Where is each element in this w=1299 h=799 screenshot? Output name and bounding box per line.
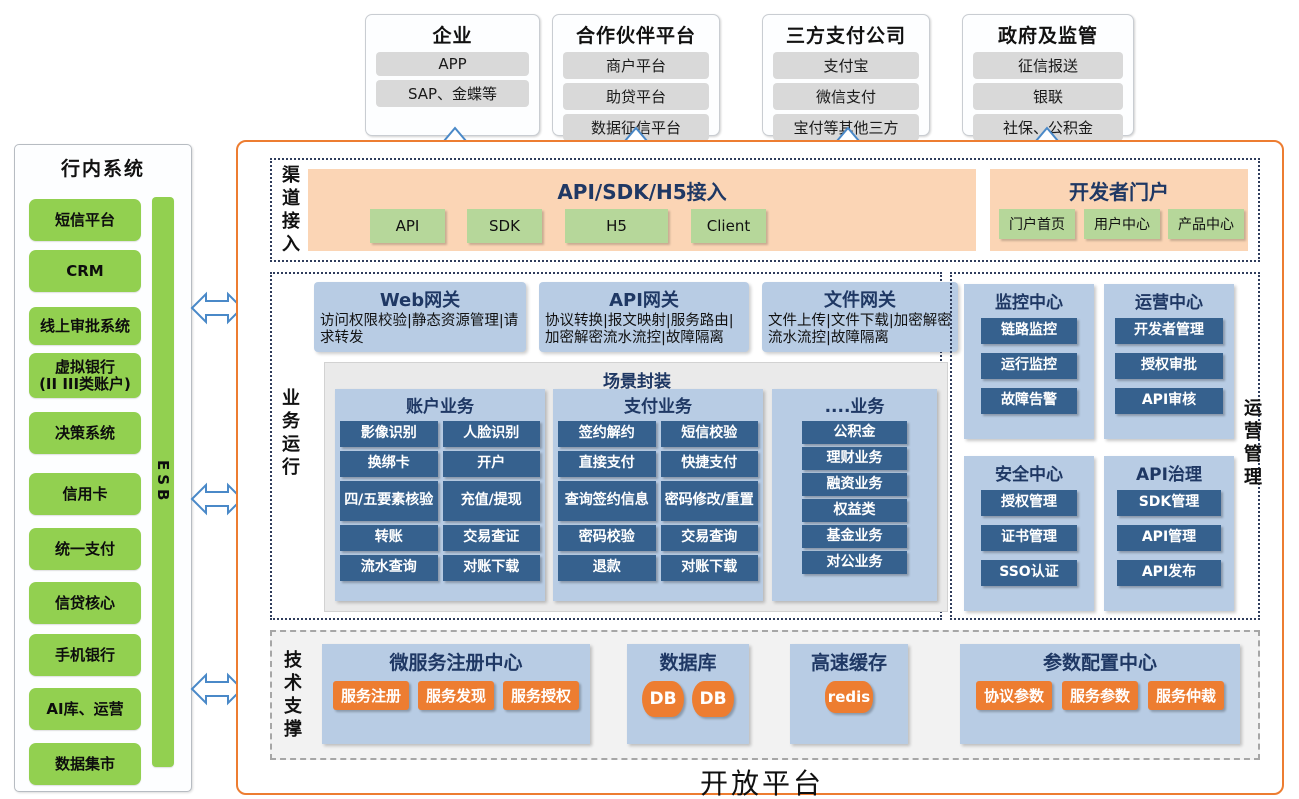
inbank-item-label: CRM (66, 263, 104, 280)
scene-chip[interactable]: 密码校验 (558, 525, 656, 551)
portal-chip-product-center[interactable]: 产品中心 (1168, 209, 1244, 239)
ops-card-operation-center: 运营中心 开发者管理 授权审批 API审核 (1104, 284, 1234, 439)
ops-chip[interactable]: SSO认证 (981, 560, 1077, 586)
partner-card-title: 合作伙伴平台 (576, 21, 696, 48)
scene-column-other-business: ....业务 公积金 理财业务 融资业务 权益类 基金业务 对公业务 (772, 389, 937, 601)
scene-chip[interactable]: 快捷支付 (661, 451, 759, 477)
inbank-item-online-approval[interactable]: 线上审批系统 (29, 307, 141, 345)
scene-chip[interactable]: 转账 (340, 525, 438, 551)
scene-chip[interactable]: 短信校验 (661, 421, 759, 447)
partner-card-title: 企业 (432, 21, 472, 48)
scene-chip[interactable]: 基金业务 (802, 525, 907, 548)
inbank-item-label: 信贷核心 (55, 595, 115, 612)
gateway-title: Web网关 (380, 286, 460, 312)
ops-card-api-governance: API治理 SDK管理 API管理 API发布 (1104, 456, 1234, 611)
channel-chip-label: Client (707, 217, 750, 235)
tech-card-title: 参数配置中心 (1043, 648, 1157, 675)
partner-card-partner-platform: 合作伙伴平台 商户平台 助贷平台 数据征信平台 (552, 14, 720, 136)
portal-chip-label: 门户首页 (1009, 214, 1065, 234)
partner-card-enterprise: 企业 APP SAP、金蝶等 (365, 14, 540, 136)
gateway-title: API网关 (609, 286, 679, 312)
tech-card-title: 数据库 (659, 648, 716, 675)
arrow-esb-platform-top (192, 292, 242, 324)
scene-chip[interactable]: 密码修改/重置 (661, 481, 759, 521)
operations-management-vertical-label: 运营管理 (1238, 379, 1264, 509)
channel-chip-sdk[interactable]: SDK (467, 209, 542, 243)
gateway-desc: 文件上传|文件下载|加密解密流水流控|故障隔离 (768, 313, 952, 347)
ops-chip[interactable]: API管理 (1117, 525, 1221, 551)
tech-chip[interactable]: 服务授权 (503, 681, 579, 710)
channel-chip-label: SDK (489, 217, 520, 235)
scene-chip[interactable]: 换绑卡 (340, 451, 438, 477)
gateway-card-api: API网关 协议转换|报文映射|服务路由|加密解密流水流控|故障隔离 (539, 282, 749, 352)
esb-bus: ESB (152, 197, 174, 767)
scene-chip[interactable]: 理财业务 (802, 447, 907, 470)
inbank-item-unified-payment[interactable]: 统一支付 (29, 528, 141, 570)
technical-support-section: 技术支撑 微服务注册中心 服务注册 服务发现 服务授权 数据库 DB DB 高速… (270, 630, 1260, 760)
partner-card-government-regulator: 政府及监管 征信报送 银联 社保、公积金 (962, 14, 1134, 136)
channel-access-vertical-label: 渠道接入 (276, 165, 302, 257)
partner-item: 支付宝 (773, 52, 919, 79)
inbank-item-sms-platform[interactable]: 短信平台 (29, 199, 141, 241)
tech-card-high-speed-cache: 高速缓存 redis (790, 644, 908, 744)
tech-chip-db[interactable]: DB (642, 681, 684, 717)
scene-chip[interactable]: 影像识别 (340, 421, 438, 447)
scene-chip[interactable]: 对账下载 (661, 555, 759, 581)
channel-access-section: 渠道接入 API/SDK/H5接入 API SDK H5 Client 开发者门… (270, 158, 1260, 262)
ops-chip[interactable]: API发布 (1117, 560, 1221, 586)
arrow-esb-platform-middle (192, 483, 242, 515)
tech-chip[interactable]: 协议参数 (976, 681, 1052, 710)
gateway-card-web: Web网关 访问权限校验|静态资源管理|请求转发 (314, 282, 526, 352)
tech-card-parameter-config-center: 参数配置中心 协议参数 服务参数 服务仲裁 (960, 644, 1240, 744)
scene-chip[interactable]: 查询签约信息 (558, 481, 656, 521)
ops-card-title: 运营中心 (1135, 288, 1203, 313)
ops-chip[interactable]: 链路监控 (981, 318, 1077, 344)
ops-chip[interactable]: 开发者管理 (1115, 318, 1223, 344)
inbank-item-label: 短信平台 (55, 212, 115, 229)
scene-chip[interactable]: 交易查证 (443, 525, 541, 551)
tech-chip[interactable]: 服务注册 (333, 681, 409, 710)
inbank-item-label: 决策系统 (55, 425, 115, 442)
scene-column-title: 账户业务 (406, 392, 474, 417)
ops-chip[interactable]: 故障告警 (981, 388, 1077, 414)
esb-label: ESB (154, 460, 172, 504)
inbank-item-label: 手机银行 (55, 647, 115, 664)
inbank-system-panel: 行内系统 ESB 短信平台 CRM 线上审批系统 虚拟银行 (II III类账户… (14, 144, 192, 792)
ops-card-title: 安全中心 (995, 460, 1063, 485)
platform-title: 开放平台 (238, 762, 1286, 799)
api-sdk-h5-access-title: API/SDK/H5接入 (308, 176, 976, 205)
partner-card-third-party-payment: 三方支付公司 支付宝 微信支付 宝付等其他三方 (762, 14, 930, 136)
inbank-item-label: 线上审批系统 (40, 318, 130, 335)
partner-item: 银联 (973, 83, 1123, 110)
scene-encapsulation-panel: 场景封装 账户业务 影像识别 换绑卡 四/五要素核验 转账 流水查询 人脸 (324, 362, 948, 612)
partner-card-title: 三方支付公司 (786, 21, 906, 48)
inbank-item-label: 统一支付 (55, 541, 115, 558)
arrow-esb-platform-bottom (192, 673, 242, 705)
ops-card-title: API治理 (1136, 460, 1202, 485)
scene-chip[interactable]: 流水查询 (340, 555, 438, 581)
inbank-item-mobile-bank[interactable]: 手机银行 (29, 634, 141, 676)
channel-chip-api[interactable]: API (370, 209, 445, 243)
scene-column-title: ....业务 (825, 392, 885, 417)
technical-support-vertical-label: 技术支撑 (278, 642, 304, 750)
ops-chip[interactable]: 运行监控 (981, 353, 1077, 379)
scene-chip[interactable]: 公积金 (802, 421, 907, 444)
developer-portal-title: 开发者门户 (990, 176, 1248, 205)
tech-chip-db[interactable]: DB (692, 681, 734, 717)
ops-card-security-center: 安全中心 授权管理 证书管理 SSO认证 (964, 456, 1094, 611)
partner-item: SAP、金蝶等 (376, 80, 529, 107)
ops-chip[interactable]: 证书管理 (981, 525, 1077, 551)
scene-chip[interactable]: 交易查询 (661, 525, 759, 551)
channel-chip-label: API (396, 217, 420, 235)
scene-chip[interactable]: 直接支付 (558, 451, 656, 477)
portal-chip-label: 产品中心 (1178, 214, 1234, 234)
operations-management-section: 监控中心 链路监控 运行监控 故障告警 运营中心 开发者管理 授权审批 API审… (950, 272, 1260, 620)
inbank-item-label: AI库、运营 (46, 701, 123, 718)
ops-chip[interactable]: 授权管理 (981, 490, 1077, 516)
scene-column-payment-business: 支付业务 签约解约 直接支付 查询签约信息 密码校验 退款 短信校验 快捷支付 (553, 389, 763, 601)
partner-card-title: 政府及监管 (998, 21, 1098, 48)
scene-chip[interactable]: 权益类 (802, 499, 907, 522)
tech-chip-redis[interactable]: redis (825, 681, 873, 713)
scene-column-title: 支付业务 (624, 392, 692, 417)
tech-card-title: 高速缓存 (811, 648, 887, 675)
architecture-diagram: 企业 APP SAP、金蝶等 合作伙伴平台 商户平台 助贷平台 数据征信平台 三… (0, 0, 1299, 799)
partner-item: 商户平台 (563, 52, 709, 79)
scene-chip[interactable]: 四/五要素核验 (340, 481, 438, 521)
gateway-card-file: 文件网关 文件上传|文件下载|加密解密流水流控|故障隔离 (762, 282, 958, 352)
inbank-item-virtual-bank[interactable]: 虚拟银行 (II III类账户) (29, 353, 141, 398)
partner-item: 微信支付 (773, 83, 919, 110)
channel-chip-client[interactable]: Client (691, 209, 766, 243)
inbank-item-credit-card[interactable]: 信用卡 (29, 473, 141, 515)
inbank-item-ai-operations[interactable]: AI库、运营 (29, 688, 141, 730)
inbank-title: 行内系统 (15, 154, 191, 181)
ops-chip[interactable]: API审核 (1115, 388, 1223, 414)
scene-column-account-business: 账户业务 影像识别 换绑卡 四/五要素核验 转账 流水查询 人脸识别 开户 (335, 389, 545, 601)
scene-chip[interactable]: 退款 (558, 555, 656, 581)
portal-chip-home[interactable]: 门户首页 (999, 209, 1075, 239)
inbank-item-decision-system[interactable]: 决策系统 (29, 412, 141, 454)
gateway-title: 文件网关 (824, 286, 896, 312)
tech-card-title: 微服务注册中心 (389, 648, 522, 675)
tech-card-database: 数据库 DB DB (627, 644, 749, 744)
portal-chip-user-center[interactable]: 用户中心 (1084, 209, 1160, 239)
scene-chip[interactable]: 融资业务 (802, 473, 907, 496)
scene-chip[interactable]: 对公业务 (802, 551, 907, 574)
scene-chip[interactable]: 充值/提现 (443, 481, 541, 521)
partner-item: APP (376, 52, 529, 76)
inbank-item-label: 虚拟银行 (II III类账户) (39, 359, 131, 393)
partner-item: 助贷平台 (563, 83, 709, 110)
scene-chip[interactable]: 对账下载 (443, 555, 541, 581)
tech-chip[interactable]: 服务仲裁 (1148, 681, 1224, 710)
channel-chip-h5[interactable]: H5 (565, 209, 668, 243)
partner-item: 征信报送 (973, 52, 1123, 79)
inbank-item-label: 数据集市 (55, 756, 115, 773)
api-sdk-h5-access-card: API/SDK/H5接入 API SDK H5 Client (308, 169, 976, 251)
scene-chip[interactable]: 开户 (443, 451, 541, 477)
inbank-item-label: 信用卡 (62, 486, 107, 503)
tech-chip[interactable]: 服务参数 (1062, 681, 1138, 710)
tech-chip[interactable]: 服务发现 (418, 681, 494, 710)
inbank-item-crm[interactable]: CRM (29, 250, 141, 292)
gateway-desc: 协议转换|报文映射|服务路由|加密解密流水流控|故障隔离 (545, 313, 743, 347)
ops-card-title: 监控中心 (995, 288, 1063, 313)
channel-chip-label: H5 (606, 217, 627, 235)
open-platform-frame: 渠道接入 API/SDK/H5接入 API SDK H5 Client 开发者门… (236, 140, 1284, 795)
gateway-desc: 访问权限校验|静态资源管理|请求转发 (320, 313, 520, 347)
portal-chip-label: 用户中心 (1094, 214, 1150, 234)
ops-card-monitoring-center: 监控中心 链路监控 运行监控 故障告警 (964, 284, 1094, 439)
business-running-vertical-label: 业务运行 (276, 384, 302, 484)
tech-card-microservice-registry: 微服务注册中心 服务注册 服务发现 服务授权 (322, 644, 590, 744)
inbank-item-data-mart[interactable]: 数据集市 (29, 743, 141, 785)
business-running-section: 业务运行 Web网关 访问权限校验|静态资源管理|请求转发 API网关 协议转换… (270, 272, 942, 620)
ops-chip[interactable]: 授权审批 (1115, 353, 1223, 379)
scene-chip[interactable]: 人脸识别 (443, 421, 541, 447)
scene-chip[interactable]: 签约解约 (558, 421, 656, 447)
inbank-item-credit-core[interactable]: 信贷核心 (29, 582, 141, 624)
developer-portal-card: 开发者门户 门户首页 用户中心 产品中心 (990, 169, 1248, 251)
ops-chip[interactable]: SDK管理 (1117, 490, 1221, 516)
